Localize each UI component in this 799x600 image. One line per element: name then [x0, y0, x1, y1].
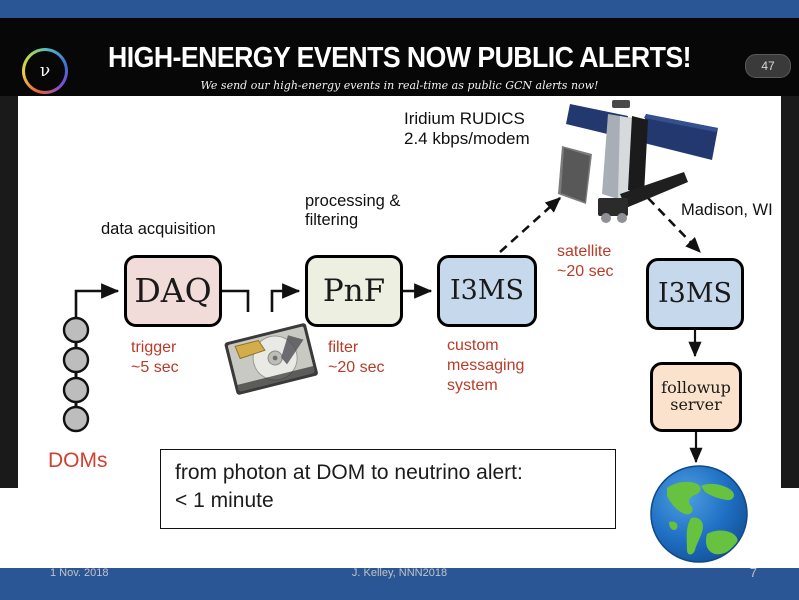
label-processing-filtering: processing & filtering	[305, 192, 400, 231]
node-daq-label: DAQ	[134, 274, 211, 309]
summary-caption-box: from photon at DOM to neutrino alert: < …	[160, 449, 616, 529]
annotation-custom-messaging: custom messaging system	[447, 336, 524, 396]
node-i3ms-pole-label: I3MS	[450, 277, 524, 306]
nu-symbol: ν	[40, 63, 50, 80]
page-subtitle: We send our high-energy events in real-t…	[0, 79, 799, 92]
node-daq[interactable]: DAQ	[124, 255, 222, 327]
slide-canvas: ν HIGH-ENERGY EVENTS NOW PUBLIC ALERTS! …	[0, 0, 799, 600]
node-followup-line2: server	[670, 397, 721, 414]
annotation-trigger: trigger ~5 sec	[131, 338, 179, 378]
node-i3ms-madison[interactable]: I3MS	[646, 258, 744, 330]
label-madison-wi: Madison, WI	[681, 201, 773, 220]
annotation-filter: filter ~20 sec	[328, 338, 384, 378]
node-followup-server[interactable]: followup server	[650, 362, 742, 432]
node-i3ms-pole[interactable]: I3MS	[437, 255, 537, 327]
footer-page-number: 7	[0, 565, 757, 580]
page-number-badge: 47	[745, 54, 791, 78]
slide-header: ν HIGH-ENERGY EVENTS NOW PUBLIC ALERTS! …	[0, 18, 799, 96]
node-pnf[interactable]: PnF	[305, 255, 403, 327]
annotation-satellite: satellite ~20 sec	[557, 242, 613, 282]
label-data-acquisition: data acquisition	[101, 220, 216, 239]
page-title: HIGH-ENERGY EVENTS NOW PUBLIC ALERTS!	[32, 42, 767, 75]
node-pnf-label: PnF	[323, 275, 385, 308]
annotation-doms: DOMs	[48, 448, 108, 474]
label-iridium-rudics: Iridium RUDICS 2.4 kbps/modem	[404, 109, 530, 149]
node-i3ms-madison-label: I3MS	[658, 280, 732, 309]
